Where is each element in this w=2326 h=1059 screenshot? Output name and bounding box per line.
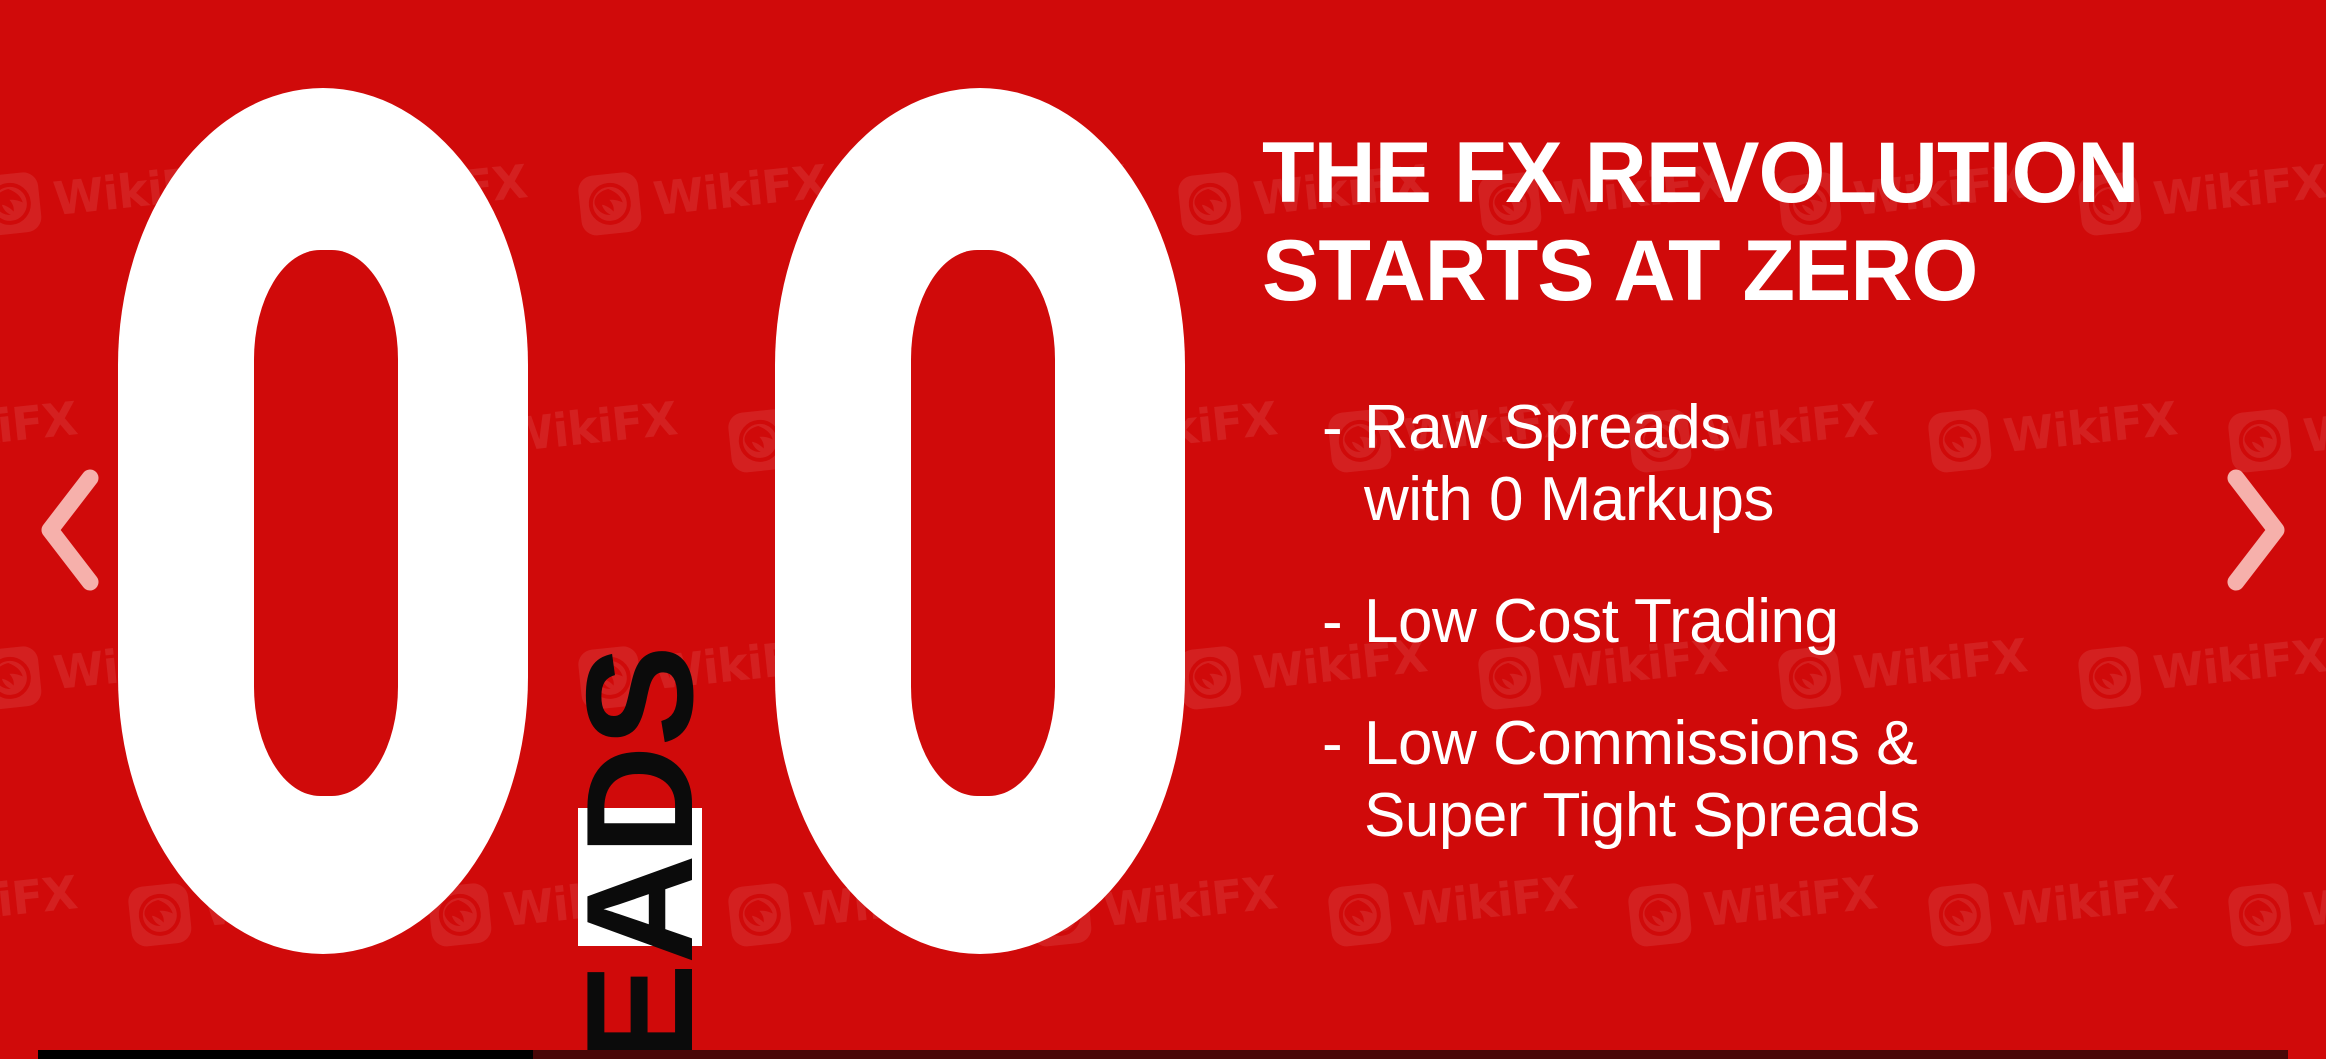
- bullet-dash: -: [1322, 392, 1364, 464]
- spreads-vertical-label: SPREADS: [578, 768, 702, 1059]
- chevron-left-icon: [34, 466, 104, 594]
- watermark-tile: WikiFX: [1327, 862, 1580, 948]
- bullet-dash: -: [1322, 708, 1364, 780]
- bullet-dash: -: [1322, 586, 1364, 658]
- chevron-right-icon: [2222, 466, 2292, 594]
- carousel-progress-fill: [38, 1050, 533, 1059]
- watermark-tile: WikiFX: [2227, 862, 2326, 948]
- watermark-label: WikiFX: [1701, 865, 1879, 937]
- benefit-list: - Raw Spreads with 0 Markups - Low Cost …: [1322, 392, 2262, 852]
- carousel-progress-track[interactable]: [38, 1050, 2288, 1059]
- promo-banner: WikiFXWikiFXWikiFXWikiFXWikiFXWikiFXWiki…: [0, 0, 2326, 1059]
- bullet-text: Low Cost Trading: [1364, 586, 1838, 658]
- wikifx-falcon-logo: [1927, 882, 1993, 948]
- watermark-label: WikiFX: [2001, 865, 2179, 937]
- carousel-prev-button[interactable]: [14, 445, 124, 615]
- list-item: - Raw Spreads with 0 Markups: [1322, 392, 2262, 536]
- headline: THE FX REVOLUTION STARTS AT ZERO: [1262, 124, 2262, 320]
- watermark-tile: WikiFX: [1927, 862, 2180, 948]
- watermark-tile: WikiFX: [1627, 862, 1880, 948]
- zero-spreads-graphic: SPREADS: [0, 0, 1210, 1059]
- bullet-text: Low Commissions & Super Tight Spreads: [1364, 708, 1920, 852]
- bullet-text: Raw Spreads with 0 Markups: [1364, 392, 1774, 536]
- wikifx-falcon-logo: [1327, 882, 1393, 948]
- watermark-label: WikiFX: [2301, 865, 2326, 937]
- watermark-label: WikiFX: [1401, 865, 1579, 937]
- copy-block: THE FX REVOLUTION STARTS AT ZERO - Raw S…: [1262, 124, 2262, 852]
- big-zero-right: [775, 88, 1185, 954]
- carousel-next-button[interactable]: [2202, 445, 2312, 615]
- wikifx-falcon-logo: [2227, 882, 2293, 948]
- list-item: - Low Cost Trading: [1322, 586, 2262, 658]
- big-zero-left: [118, 88, 528, 954]
- list-item: - Low Commissions & Super Tight Spreads: [1322, 708, 2262, 852]
- wikifx-falcon-logo: [1627, 882, 1693, 948]
